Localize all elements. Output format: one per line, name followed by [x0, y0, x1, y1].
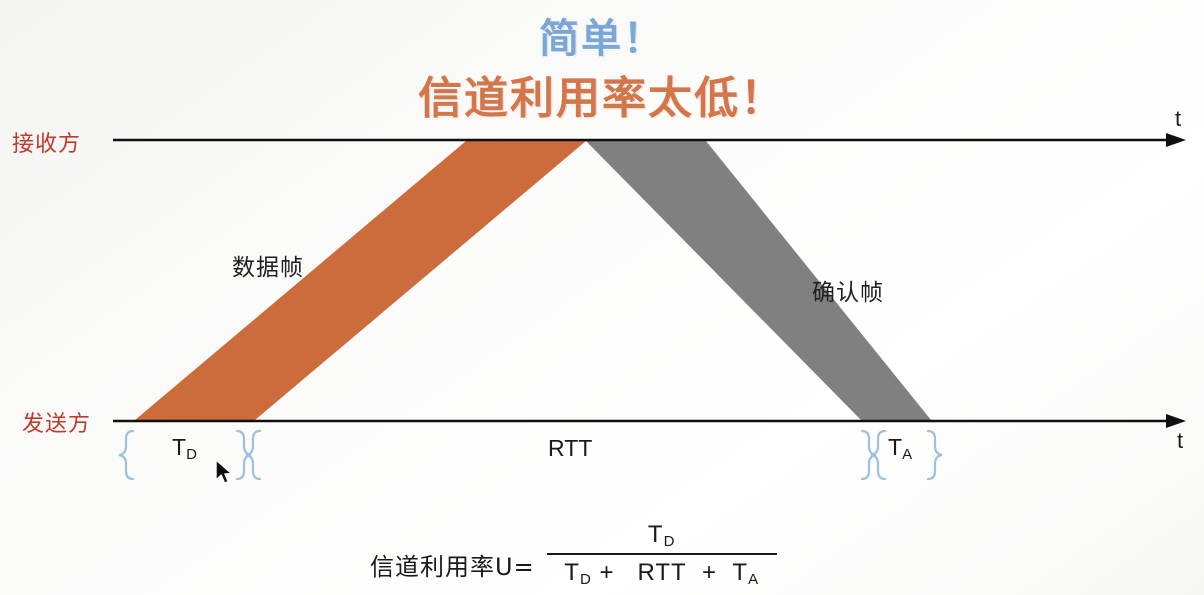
- denominator-term-3-base: T: [732, 559, 748, 586]
- denominator-plus-2: +: [702, 559, 717, 586]
- timing-diagram: [0, 0, 1204, 595]
- utilization-formula: 信道利用率U= TD TD + RTT + TA: [370, 520, 777, 588]
- brace-ta-open: [871, 431, 885, 479]
- span-td-base: T: [172, 434, 186, 460]
- sender-axis-arrow: [1166, 414, 1186, 428]
- time-axis-label-top: t: [1175, 106, 1181, 132]
- denominator-term-2: RTT: [637, 559, 686, 586]
- denominator-term-1-sub: D: [580, 571, 592, 588]
- formula-fraction: TD TD + RTT + TA: [547, 520, 777, 588]
- span-label-ta: TA: [888, 434, 912, 461]
- brace-td-open: [119, 431, 133, 479]
- brace-ta-close: [928, 431, 942, 479]
- numerator-sub: D: [664, 533, 676, 550]
- brace-rtt-open: [246, 431, 260, 479]
- span-label-rtt: RTT: [548, 435, 592, 462]
- numerator-base: T: [648, 521, 664, 548]
- ack-frame-label: 确认帧: [812, 273, 884, 307]
- sender-label: 发送方: [22, 406, 91, 438]
- slide-canvas: 简单！ 信道利用率太低！ 接收方 发送方 t t 数据帧 确认帧 TD: [0, 0, 1204, 595]
- span-td-sub: D: [186, 446, 197, 463]
- time-axis-label-bottom: t: [1177, 428, 1183, 454]
- denominator-plus-1: +: [599, 559, 614, 586]
- span-ta-base: T: [888, 434, 902, 460]
- formula-numerator: TD: [638, 520, 686, 553]
- span-ta-sub: A: [902, 446, 912, 463]
- span-rtt-base: RTT: [548, 435, 592, 461]
- receiver-axis-arrow: [1166, 133, 1186, 147]
- denominator-term-1-base: T: [564, 559, 580, 586]
- formula-left-hand-side: 信道利用率U=: [370, 547, 547, 582]
- receiver-label: 接收方: [12, 126, 81, 158]
- formula-denominator: TD + RTT + TA: [554, 555, 769, 588]
- data-frame-shape: [135, 141, 586, 420]
- data-frame-label: 数据帧: [232, 248, 304, 282]
- denominator-term-3-sub: A: [748, 571, 759, 588]
- span-label-td: TD: [172, 434, 197, 461]
